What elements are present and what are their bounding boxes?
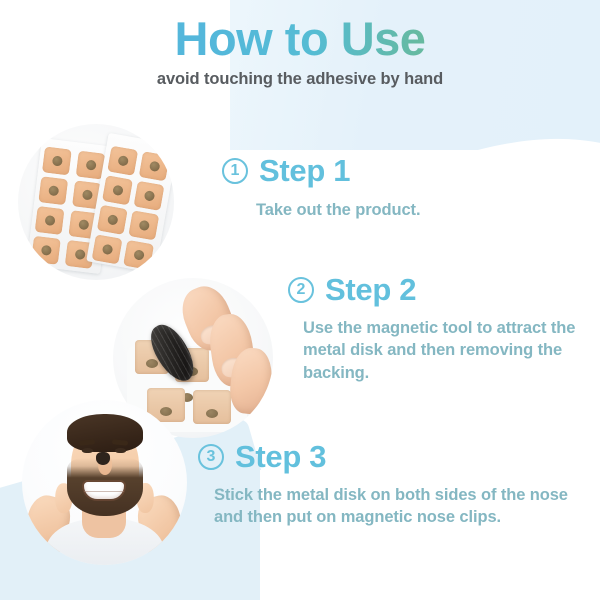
infographic-page: How to Use avoid touching the adhesive b… [0, 0, 600, 600]
step-1-title: Step 1 [259, 155, 350, 186]
step-1-heading: 1 Step 1 [222, 155, 420, 186]
step-3: 3 Step 3 Stick the metal disk on both si… [198, 441, 584, 529]
step-2-title: Step 2 [325, 274, 416, 305]
hair [67, 414, 143, 452]
page-subtitle: avoid touching the adhesive by hand [0, 70, 600, 89]
step-1-number-icon: 1 [222, 158, 248, 184]
step-1-body: Take out the product. [256, 199, 420, 221]
step-3-heading: 3 Step 3 [198, 441, 584, 472]
step-3-number-icon: 3 [198, 444, 224, 470]
step-3-body: Stick the metal disk on both sides of th… [214, 484, 584, 529]
step-2-heading: 2 Step 2 [288, 274, 578, 305]
eye-right [115, 448, 126, 453]
step-2: 2 Step 2 Use the magnetic tool to attrac… [288, 274, 578, 384]
step-1: 1 Step 1 Take out the product. [222, 155, 420, 221]
eye-left [82, 448, 93, 453]
step-3-title: Step 3 [235, 441, 326, 472]
header: How to Use avoid touching the adhesive b… [0, 14, 600, 89]
step-1-photo-patch-sheets [18, 124, 174, 280]
step-2-number-icon: 2 [288, 277, 314, 303]
page-title: How to Use [0, 14, 600, 65]
magnetic-nose-clip [96, 452, 110, 465]
step-3-photo-man-thumbs-up [22, 400, 187, 565]
step-2-body: Use the magnetic tool to attract the met… [303, 317, 578, 384]
smiling-mouth [84, 482, 124, 499]
